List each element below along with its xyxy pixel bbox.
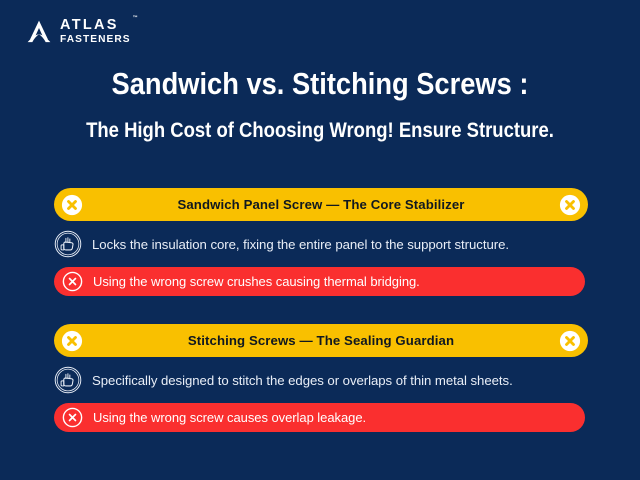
brand-wordmark: ATLAS FASTENERS ™ (60, 18, 131, 45)
section-heading-text: Sandwich Panel Screw — The Core Stabiliz… (177, 197, 464, 212)
circle-x-icon (62, 407, 83, 428)
section-warning-bar: Using the wrong screw causes overlap lea… (54, 403, 585, 432)
section-list: Sandwich Panel Screw — The Core Stabiliz… (0, 188, 640, 432)
atlas-triangle-logo-icon (26, 19, 52, 45)
section-warning-text: Using the wrong screw causes overlap lea… (93, 410, 366, 425)
page-title: Sandwich vs. Stitching Screws : (38, 66, 601, 102)
section-stitching-screws: Stitching Screws — The Sealing Guardian … (0, 324, 640, 432)
page-subtitle: The High Cost of Choosing Wrong! Ensure … (38, 119, 601, 143)
trademark-symbol: ™ (133, 16, 138, 21)
circle-x-icon (559, 330, 581, 352)
section-heading-bar: Sandwich Panel Screw — The Core Stabiliz… (54, 188, 588, 221)
hand-grip-icon (54, 366, 82, 394)
brand-name-bottom: FASTENERS (60, 35, 131, 45)
hand-grip-icon (54, 230, 82, 258)
section-info-text: Locks the insulation core, fixing the en… (92, 237, 509, 252)
section-warning-bar: Using the wrong screw crushes causing th… (54, 267, 585, 296)
circle-x-icon (62, 271, 83, 292)
brand-name-top: ATLAS (60, 18, 131, 33)
section-heading-text: Stitching Screws — The Sealing Guardian (188, 333, 454, 348)
section-heading-bar: Stitching Screws — The Sealing Guardian (54, 324, 588, 357)
brand-logo: ATLAS FASTENERS ™ (26, 18, 131, 45)
section-info-text: Specifically designed to stitch the edge… (92, 373, 513, 388)
circle-x-icon (61, 194, 83, 216)
section-info-row: Specifically designed to stitch the edge… (54, 366, 640, 394)
circle-x-icon (559, 194, 581, 216)
section-info-row: Locks the insulation core, fixing the en… (54, 230, 640, 258)
section-warning-text: Using the wrong screw crushes causing th… (93, 274, 420, 289)
section-sandwich-panel-screw: Sandwich Panel Screw — The Core Stabiliz… (0, 188, 640, 296)
circle-x-icon (61, 330, 83, 352)
